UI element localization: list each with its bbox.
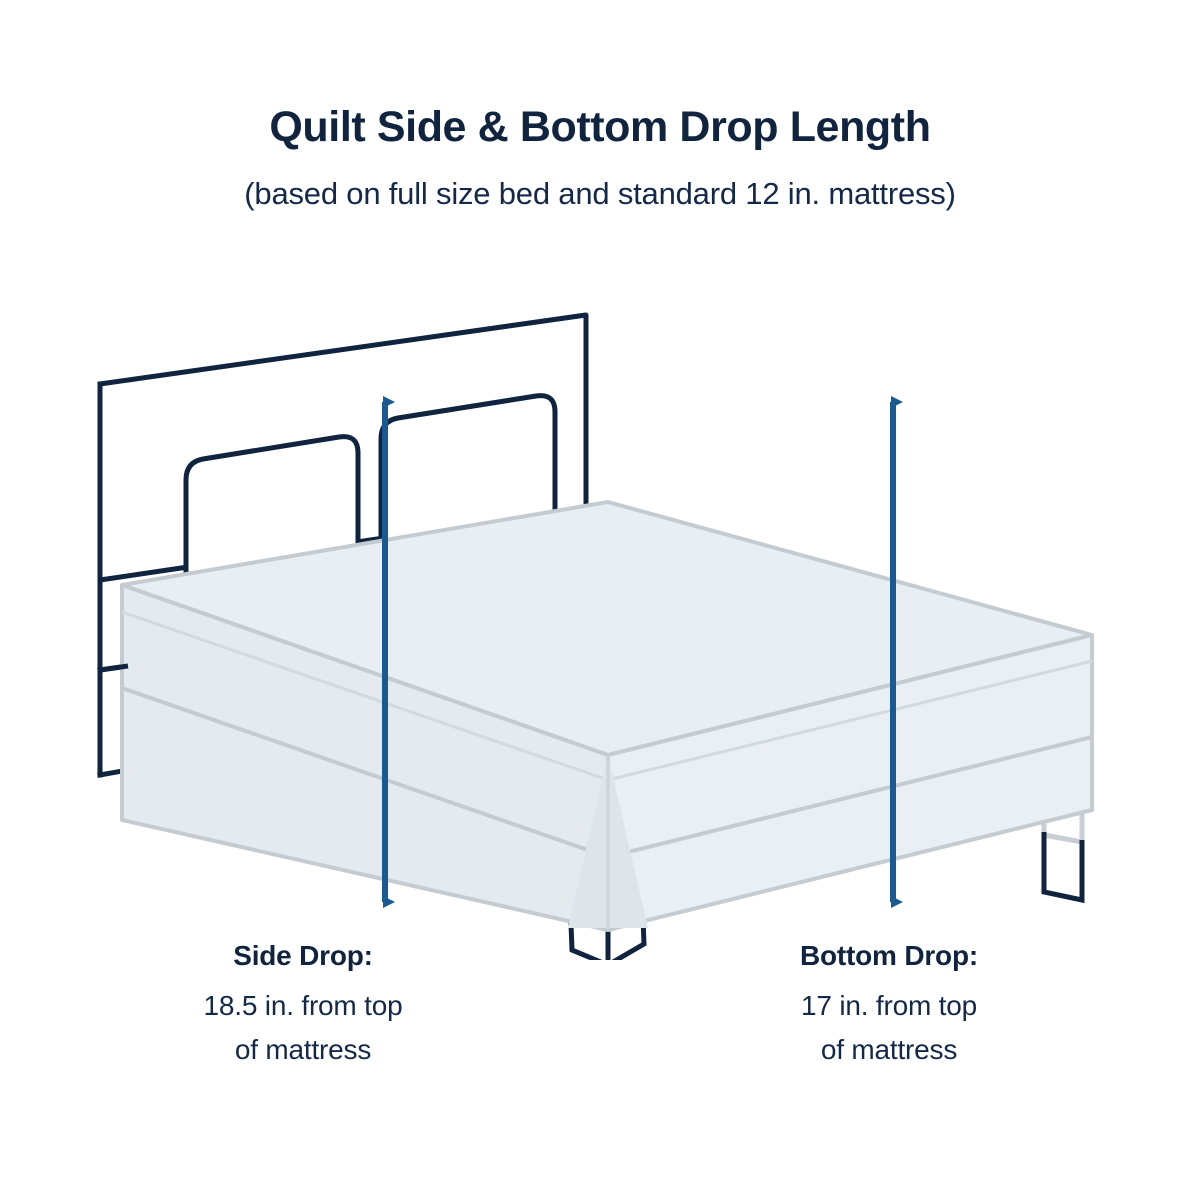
bottom-drop-heading: Bottom Drop:: [596, 940, 1182, 972]
bottom-drop-line-1: 17 in. from top: [596, 984, 1182, 1027]
side-drop-line-1: 18.5 in. from top: [10, 984, 596, 1027]
bed-illustration: [0, 280, 1200, 960]
header: Quilt Side & Bottom Drop Length (based o…: [0, 0, 1200, 211]
page-subtitle: (based on full size bed and standard 12 …: [0, 151, 1200, 211]
page-title: Quilt Side & Bottom Drop Length: [0, 104, 1200, 151]
bottom-drop-line-2: of mattress: [596, 1028, 1182, 1071]
side-drop-line-2: of mattress: [10, 1028, 596, 1071]
bed-diagram-svg: [0, 280, 1200, 960]
side-drop-heading: Side Drop:: [10, 940, 596, 972]
side-drop-caption: Side Drop: 18.5 in. from top of mattress: [0, 940, 596, 1071]
bottom-drop-text: 17 in. from top of mattress: [596, 972, 1182, 1071]
diagram-page: Quilt Side & Bottom Drop Length (based o…: [0, 0, 1200, 1200]
bottom-drop-caption: Bottom Drop: 17 in. from top of mattress: [596, 940, 1200, 1071]
side-drop-text: 18.5 in. from top of mattress: [10, 972, 596, 1071]
captions-row: Side Drop: 18.5 in. from top of mattress…: [0, 940, 1200, 1071]
mattress-with-quilt: [122, 502, 1092, 930]
